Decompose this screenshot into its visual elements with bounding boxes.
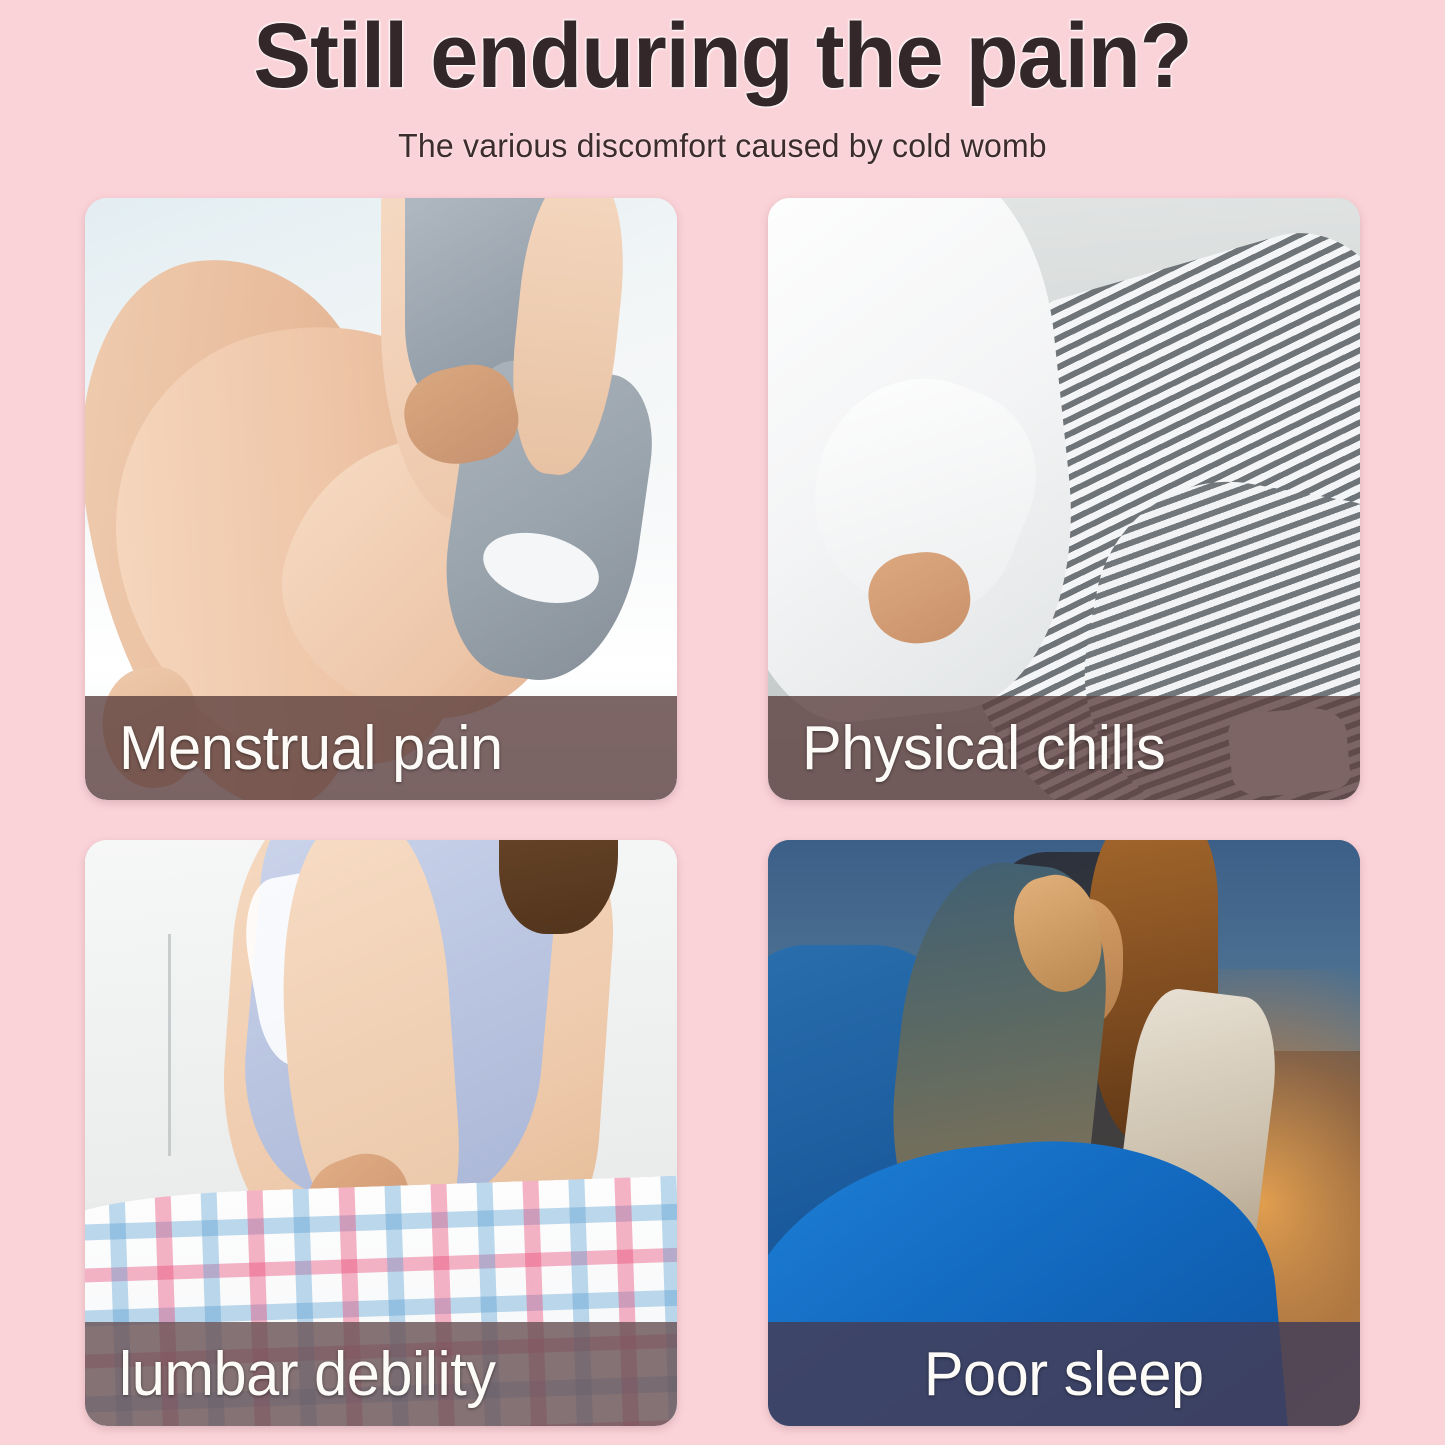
poor-sleep-caption-label: Poor sleep bbox=[924, 1339, 1204, 1410]
symptom-card-lumbar-debility[interactable]: lumbar debility bbox=[85, 840, 677, 1426]
symptom-card-grid: Menstrual pain Physical chills bbox=[85, 198, 1360, 1426]
physical-chills-caption-label: Physical chills bbox=[802, 713, 1165, 784]
symptom-card-poor-sleep[interactable]: Poor sleep bbox=[768, 840, 1360, 1426]
page-subtitle: The various discomfort caused by cold wo… bbox=[22, 127, 1424, 165]
symptom-card-physical-chills[interactable]: Physical chills bbox=[768, 198, 1360, 800]
page-header: Still enduring the pain? The various dis… bbox=[0, 0, 1445, 165]
physical-chills-caption-bar: Physical chills bbox=[768, 696, 1360, 800]
menstrual-pain-caption-label: Menstrual pain bbox=[119, 713, 503, 784]
lumbar-debility-caption-bar: lumbar debility bbox=[85, 1322, 677, 1426]
lumbar-debility-caption-label: lumbar debility bbox=[119, 1339, 496, 1410]
symptom-card-menstrual-pain[interactable]: Menstrual pain bbox=[85, 198, 677, 800]
menstrual-pain-caption-bar: Menstrual pain bbox=[85, 696, 677, 800]
poor-sleep-caption-bar: Poor sleep bbox=[768, 1322, 1360, 1426]
page-title: Still enduring the pain? bbox=[43, 8, 1401, 105]
